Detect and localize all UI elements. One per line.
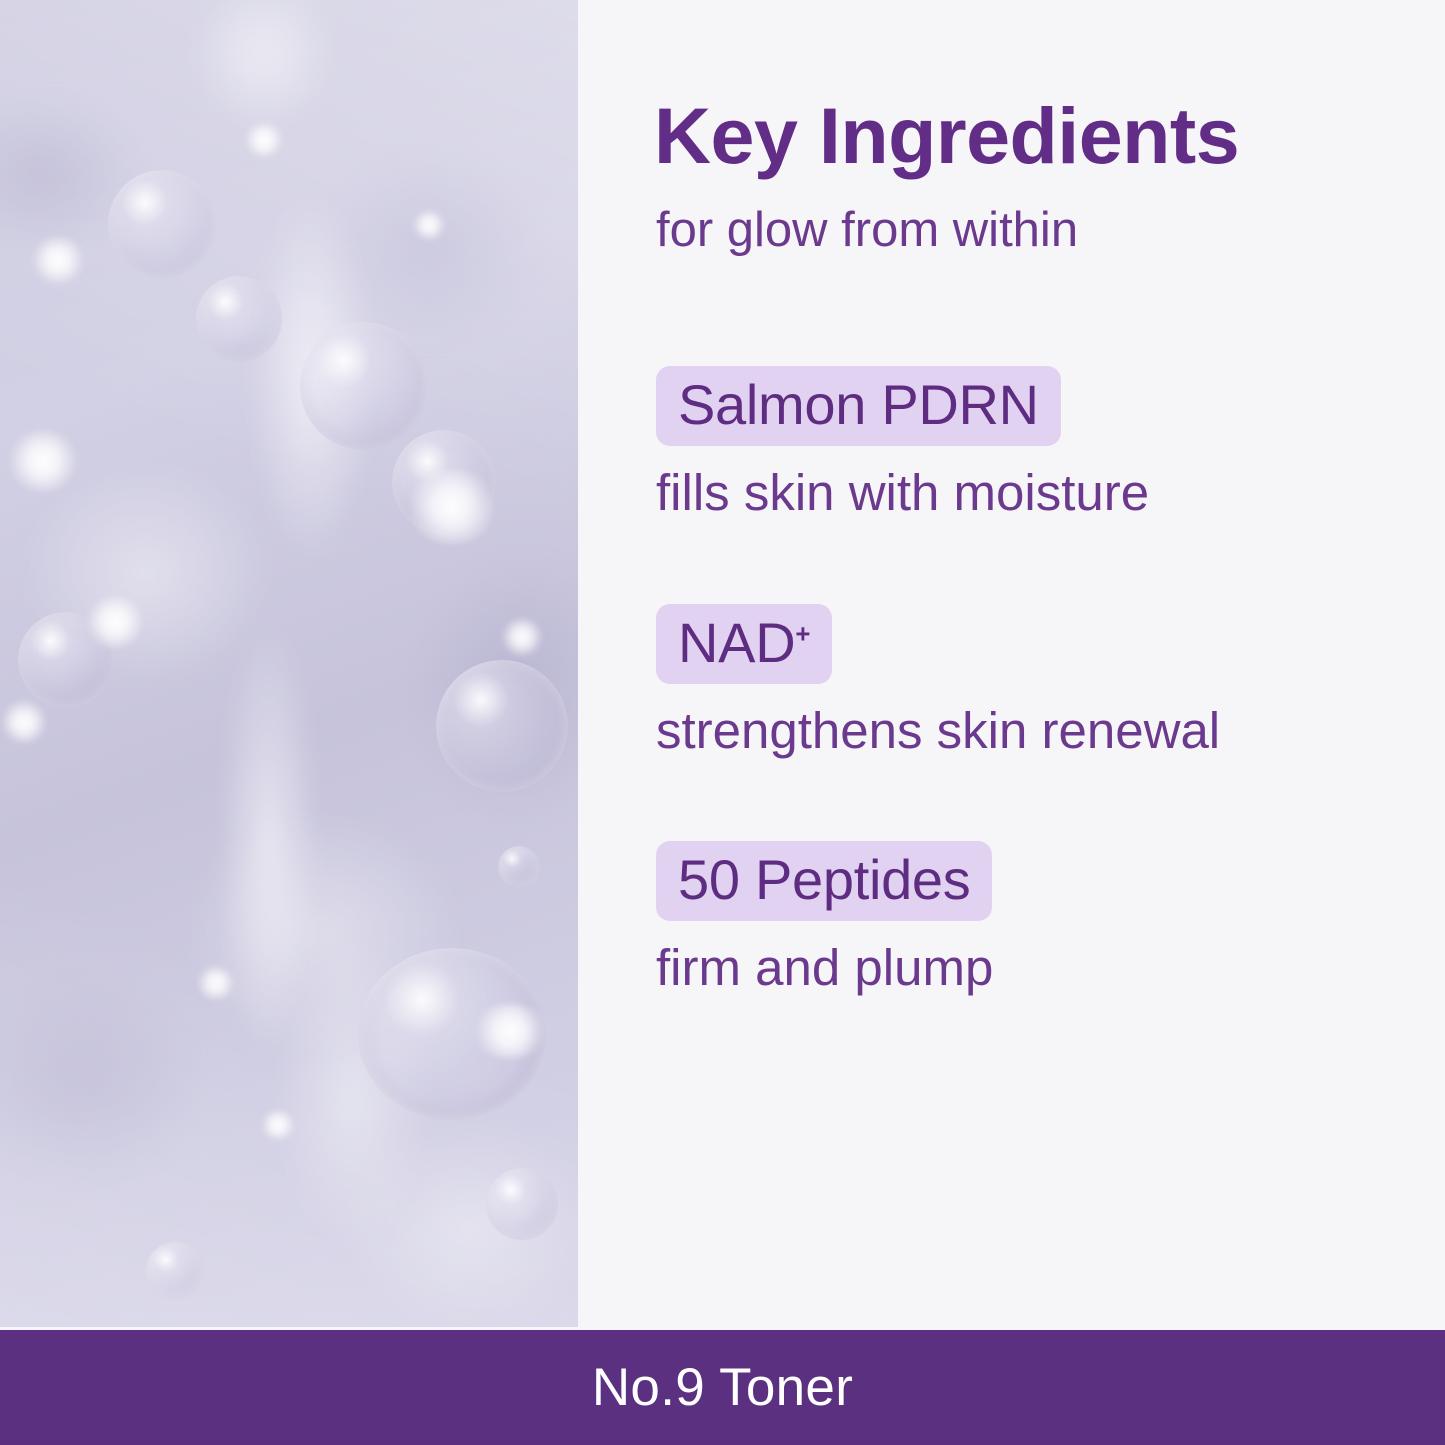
ingredient-name: Salmon PDRN — [678, 373, 1039, 436]
ingredient-description: firm and plump — [656, 941, 1445, 995]
gel-bubble — [146, 1242, 204, 1300]
ingredient-description: strengthens skin renewal — [656, 704, 1445, 758]
list-item: 50 Peptides firm and plump — [656, 841, 1445, 995]
highlight-sparkle — [6, 430, 80, 492]
highlight-sparkle — [500, 618, 544, 656]
ingredient-badge-salmon-pdrn: Salmon PDRN — [656, 366, 1061, 446]
ingredient-badge-50-peptides: 50 Peptides — [656, 841, 992, 921]
gel-bubble — [436, 660, 568, 792]
page-subtitle: for glow from within — [656, 204, 1078, 257]
list-item: NAD+ strengthens skin renewal — [656, 604, 1445, 758]
list-item: Salmon PDRN fills skin with moisture — [656, 366, 1445, 520]
highlight-sparkle — [0, 700, 48, 744]
highlight-sparkle — [30, 236, 86, 284]
page-title: Key Ingredients — [654, 96, 1444, 177]
content-panel: Key Ingredients for glow from within Sal… — [578, 0, 1445, 1327]
key-ingredients-poster: Key Ingredients for glow from within Sal… — [0, 0, 1445, 1445]
highlight-sparkle — [244, 122, 284, 158]
ingredient-badge-nad-plus: NAD+ — [656, 604, 832, 684]
ingredient-description: fills skin with moisture — [656, 466, 1445, 520]
ingredient-superscript: + — [795, 620, 810, 648]
ingredient-list: Salmon PDRN fills skin with moisture NAD… — [656, 366, 1445, 995]
highlight-sparkle — [84, 596, 146, 648]
gel-bubble — [108, 170, 216, 278]
highlight-sparkle — [196, 966, 236, 1000]
ingredient-name: 50 Peptides — [678, 848, 970, 911]
gel-bubble — [498, 846, 540, 888]
ingredient-name: NAD — [678, 611, 795, 674]
highlight-sparkle — [470, 1004, 550, 1058]
highlight-sparkle — [404, 470, 500, 544]
highlight-sparkle — [260, 1110, 296, 1140]
gel-bubble — [300, 322, 428, 450]
footer-bar: No.9 Toner — [0, 1330, 1445, 1445]
highlight-sparkle — [412, 210, 446, 240]
gel-bubble — [196, 276, 282, 362]
gel-bubble — [486, 1168, 558, 1240]
gel-droplets-image — [0, 0, 578, 1327]
product-name-label: No.9 Toner — [592, 1357, 853, 1418]
